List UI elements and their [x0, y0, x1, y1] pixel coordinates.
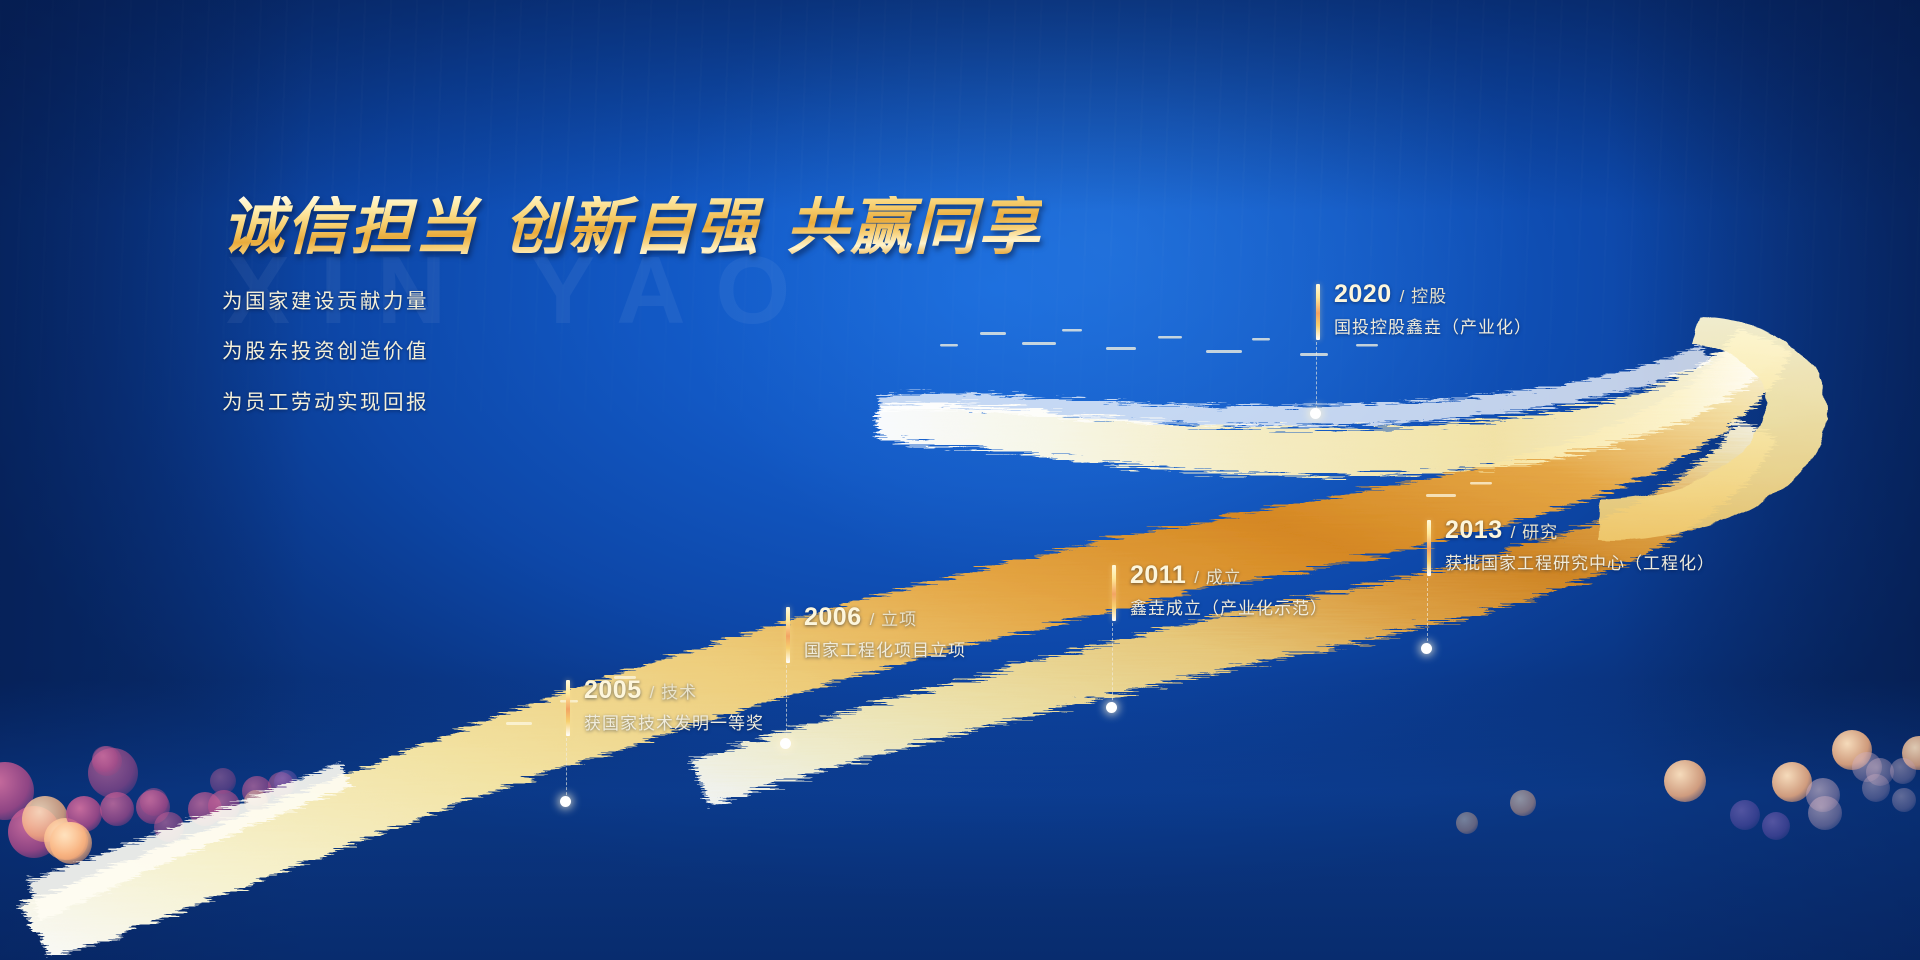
milestone-leader-line-2005: [566, 738, 567, 800]
milestone-description: 获国家技术发明一等奖: [584, 715, 764, 732]
milestone-description: 获批国家工程研究中心（工程化）: [1445, 555, 1715, 572]
tagline-item-3: 为员工劳动实现回报: [222, 393, 1042, 414]
milestone-2013[interactable]: 2013/ 研究 获批国家工程研究中心（工程化）: [1427, 518, 1715, 572]
banner-stage: XIN YAO 诚信担当创新自强共赢同享 为国家建设贡献力量 为股东投资创造价值…: [0, 0, 1920, 960]
milestone-description: 鑫垚成立（产业化示范）: [1130, 600, 1328, 617]
milestone-2005[interactable]: 2005/ 技术 获国家技术发明一等奖: [566, 678, 764, 732]
milestone-2006[interactable]: 2006/ 立项 国家工程化项目立项: [786, 605, 966, 659]
milestone-accent-bar-icon: [786, 607, 790, 663]
milestone-leader-line-2011: [1112, 623, 1113, 705]
headline-segment-1: 诚信担当: [222, 194, 478, 262]
tagline-item-2: 为股东投资创造价值: [222, 342, 1042, 363]
milestone-marker-dot-2011: [1106, 702, 1117, 713]
milestone-marker-dot-2005: [560, 796, 571, 807]
milestone-year: 2013: [1445, 518, 1503, 543]
milestone-tag: / 技术: [650, 678, 697, 703]
milestone-text: 2011/ 成立 鑫垚成立（产业化示范）: [1112, 563, 1328, 617]
milestone-accent-bar-icon: [1112, 565, 1116, 621]
milestone-tag: / 研究: [1511, 518, 1558, 543]
milestone-description: 国家工程化项目立项: [804, 642, 966, 659]
milestone-marker-dot-2006: [780, 738, 791, 749]
milestone-year: 2020: [1334, 282, 1392, 307]
milestone-accent-bar-icon: [1427, 520, 1431, 576]
milestone-leader-line-2013: [1427, 578, 1428, 646]
headline-segment-2: 创新自强: [504, 194, 760, 262]
headline-segment-3: 共赢同享: [786, 194, 1042, 262]
milestone-leader-line-2020: [1316, 342, 1317, 414]
milestone-year: 2006: [804, 605, 862, 630]
milestone-text: 2020/ 控股 国投控股鑫垚（产业化）: [1316, 282, 1532, 336]
milestone-text: 2006/ 立项 国家工程化项目立项: [786, 605, 966, 659]
milestone-marker-dot-2013: [1421, 643, 1432, 654]
milestone-accent-bar-icon: [1316, 284, 1320, 340]
tagline-item-1: 为国家建设贡献力量: [222, 292, 1042, 313]
milestone-tag: / 立项: [870, 605, 917, 630]
milestone-text: 2013/ 研究 获批国家工程研究中心（工程化）: [1427, 518, 1715, 572]
milestone-accent-bar-icon: [566, 680, 570, 736]
milestone-tag: / 控股: [1400, 282, 1447, 307]
milestone-year: 2005: [584, 678, 642, 703]
milestone-tag: / 成立: [1194, 563, 1241, 588]
headline-block: 诚信担当创新自强共赢同享 为国家建设贡献力量 为股东投资创造价值 为员工劳动实现…: [222, 196, 1042, 443]
milestone-2011[interactable]: 2011/ 成立 鑫垚成立（产业化示范）: [1112, 563, 1328, 617]
milestone-description: 国投控股鑫垚（产业化）: [1334, 319, 1532, 336]
milestone-text: 2005/ 技术 获国家技术发明一等奖: [566, 678, 764, 732]
tagline-list: 为国家建设贡献力量 为股东投资创造价值 为员工劳动实现回报: [222, 292, 1042, 414]
milestone-leader-line-2006: [786, 665, 787, 741]
milestone-year: 2011: [1130, 563, 1186, 588]
milestone-2020[interactable]: 2020/ 控股 国投控股鑫垚（产业化）: [1316, 282, 1532, 336]
milestone-marker-dot-2020: [1310, 408, 1321, 419]
page-title: 诚信担当创新自强共赢同享: [222, 196, 1042, 262]
brush-stroke-ribbon: [0, 0, 1920, 960]
